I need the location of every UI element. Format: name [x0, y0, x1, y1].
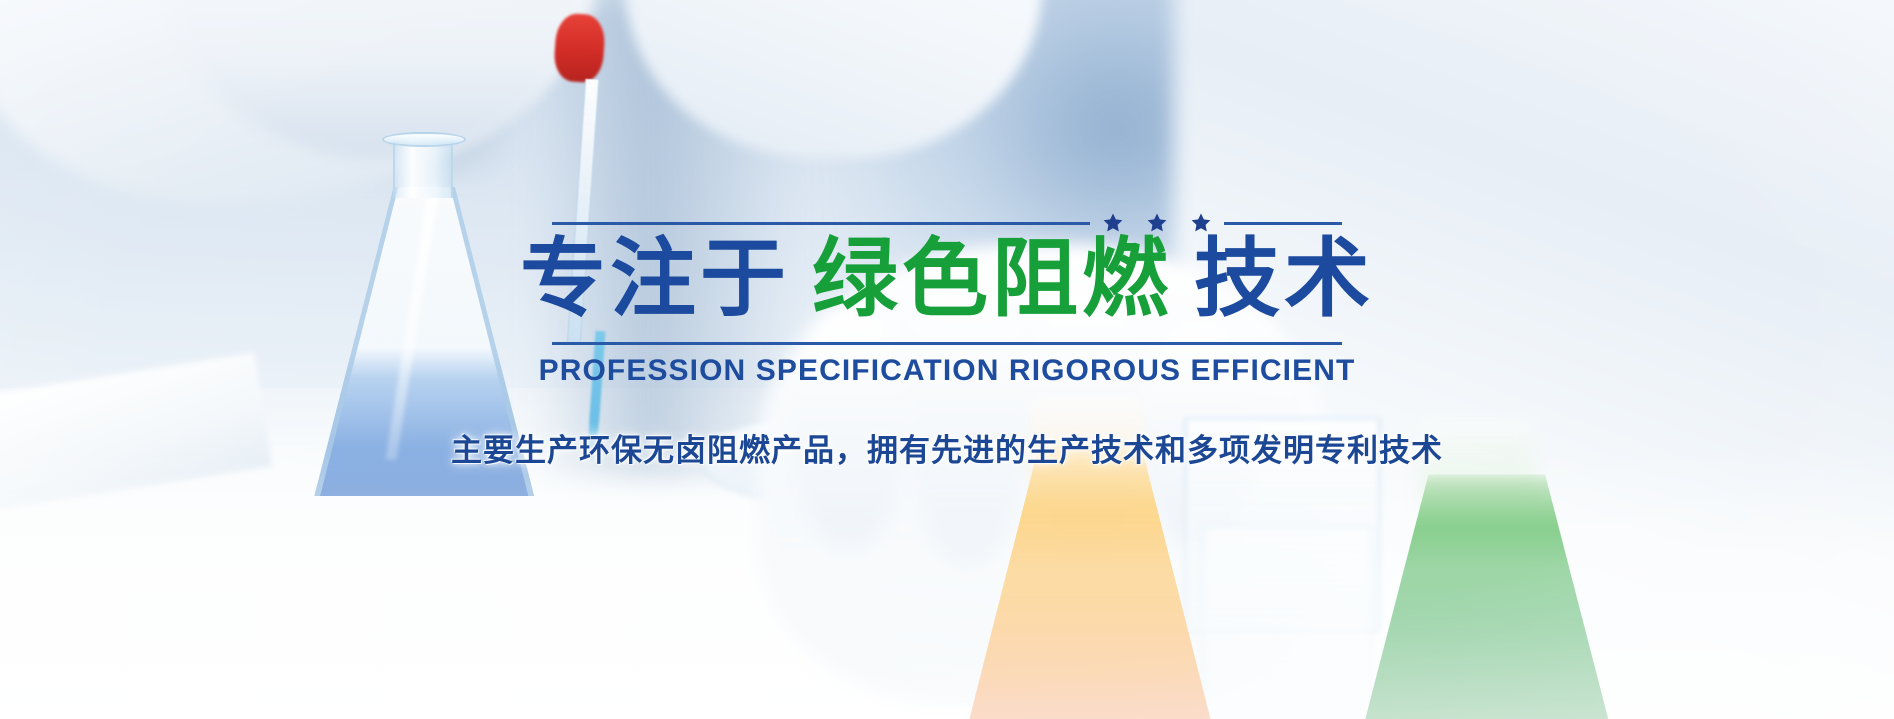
title-bottom-rule: [552, 342, 1342, 345]
title-part-blue-1: 专注于: [520, 231, 790, 327]
title-part-green: 绿色阻燃: [812, 231, 1172, 327]
decoration-rule-left: [552, 222, 1090, 225]
title-part-blue-2: 技术: [1194, 231, 1374, 327]
page-title: 专注于绿色阻燃技术: [520, 236, 1374, 322]
hero-banner: 专注于绿色阻燃技术 PROFESSION SPECIFICATION RIGOR…: [0, 0, 1894, 719]
description-chinese: 主要生产环保无卤阻燃产品，拥有先进的生产技术和多项发明专利技术: [451, 425, 1443, 470]
banner-content: 专注于绿色阻燃技术 PROFESSION SPECIFICATION RIGOR…: [0, 0, 1894, 719]
decoration-rule-right: [1224, 222, 1342, 225]
subtitle-english: PROFESSION SPECIFICATION RIGOROUS EFFICI…: [539, 354, 1356, 388]
